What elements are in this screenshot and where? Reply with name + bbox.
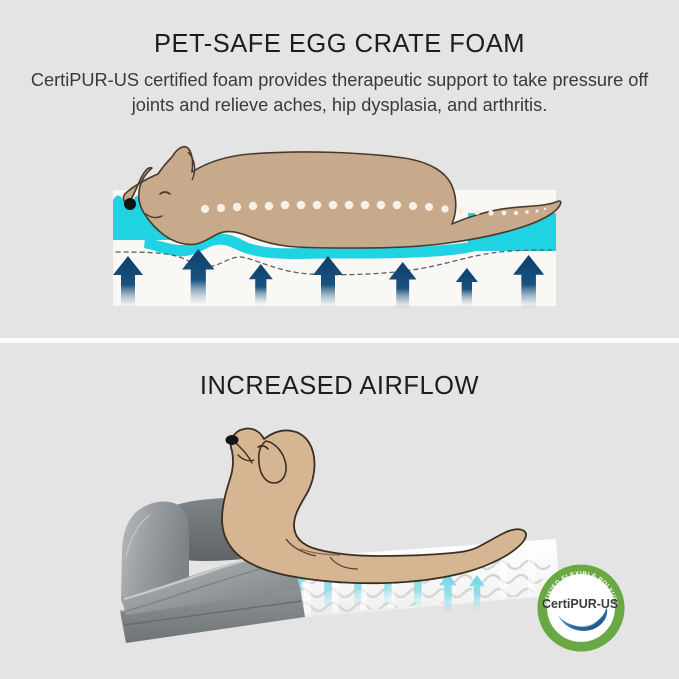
illustration-dog-on-foam-cross-section <box>0 0 679 340</box>
section-egg-crate-foam: PET-SAFE EGG CRATE FOAM CertiPUR-US cert… <box>0 0 679 340</box>
section-increased-airflow: INCREASED AIRFLOW <box>0 343 679 679</box>
certipur-us-certification-badge: CONTAINS CERTIFIED FLEXIBLE POLYURETHANE… <box>537 564 625 652</box>
dog-nose <box>226 435 239 445</box>
infographic-page: PET-SAFE EGG CRATE FOAM CertiPUR-US cert… <box>0 0 679 679</box>
dog-sitting-silhouette <box>222 428 526 583</box>
dog-nose <box>124 198 136 210</box>
